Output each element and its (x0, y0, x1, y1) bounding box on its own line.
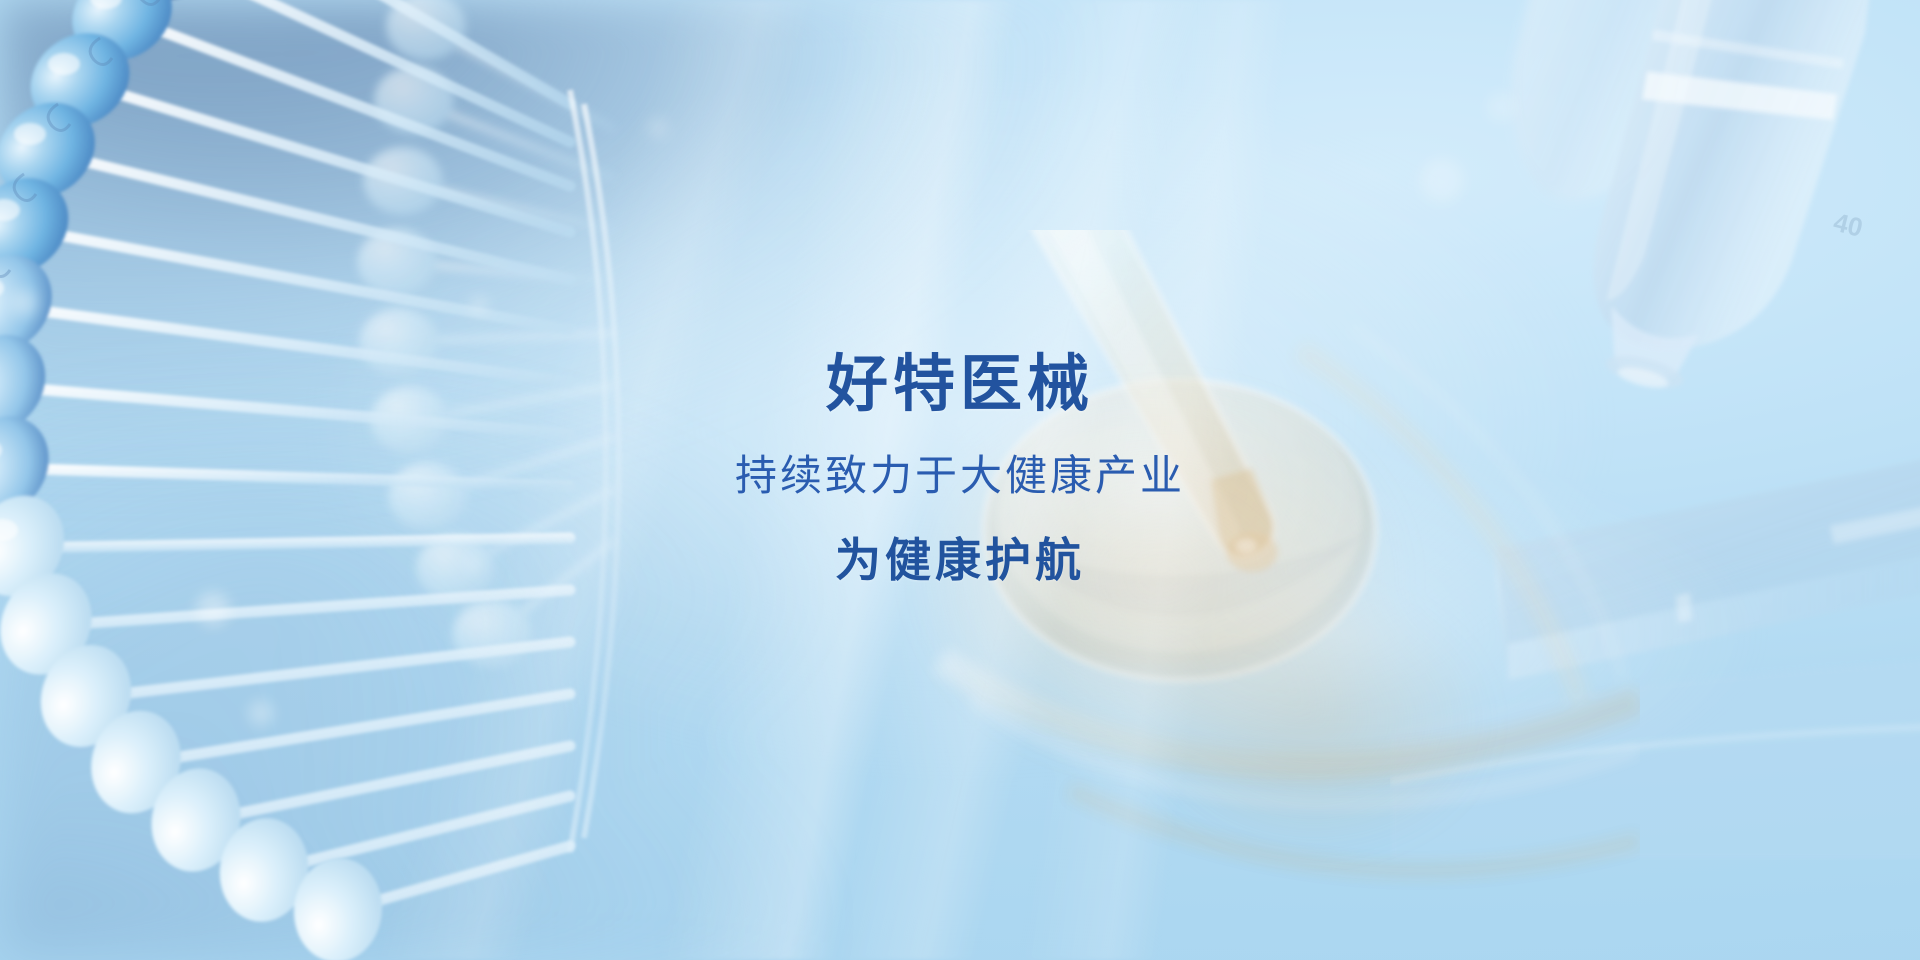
hero-banner: 40 (0, 0, 1920, 960)
objective-magnification-label: 40 (1831, 207, 1866, 243)
hero-slogan: 为健康护航 (0, 535, 1920, 586)
hero-copy: 好特医械 持续致力于大健康产业 为健康护航 (0, 352, 1920, 586)
page-title: 好特医械 (0, 352, 1920, 419)
hero-subtitle: 持续致力于大健康产业 (0, 453, 1920, 499)
